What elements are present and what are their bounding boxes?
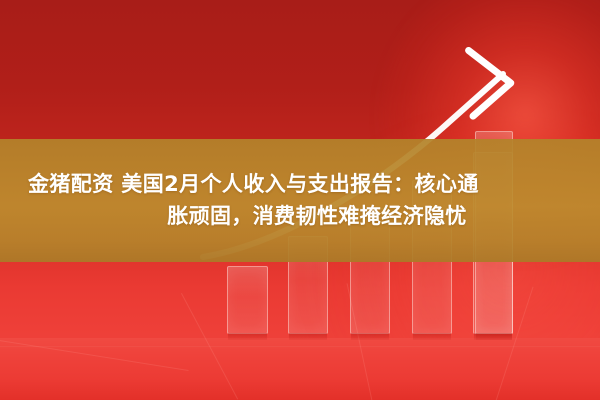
headline-line-2: 胀顽固，消费韧性难掩经济隐忧 [133,204,467,230]
headline-text-block: 金猪配资 美国2月个人收入与支出报告：核心通 胀顽固，消费韧性难掩经济隐忧 [0,139,600,262]
headline-line-1: 金猪配资 美国2月个人收入与支出报告：核心通 [18,172,479,198]
banner-image: 金猪配资 美国2月个人收入与支出报告：核心通 胀顽固，消费韧性难掩经济隐忧 [0,0,600,400]
arrow-head [438,47,511,120]
